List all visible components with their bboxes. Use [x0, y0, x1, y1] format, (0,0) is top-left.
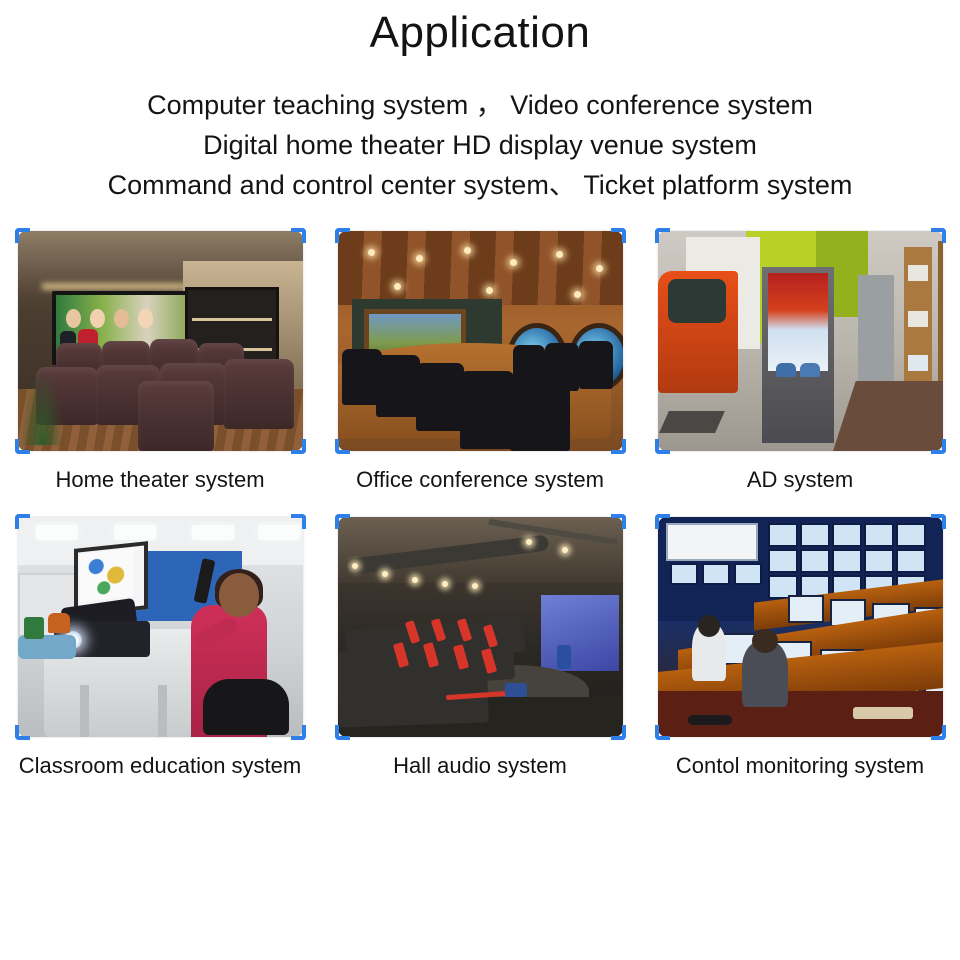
photo-frame-classroom[interactable]	[18, 517, 303, 737]
photo-frame-ad-system[interactable]	[658, 231, 943, 451]
gallery-caption: Hall audio system	[393, 751, 567, 781]
gallery-caption: Classroom education system	[19, 751, 301, 781]
world-map-icon	[666, 523, 758, 561]
photo-frame-control-monitoring[interactable]	[658, 517, 943, 737]
photo-frame-office-conference[interactable]	[338, 231, 623, 451]
keyboard-icon	[203, 679, 289, 735]
gallery-item-hall-audio: Hall audio system	[320, 517, 640, 781]
subtitle-line-2: Digital home theater HD display venue sy…	[0, 125, 960, 165]
gallery-caption: Home theater system	[55, 465, 264, 495]
presentation-screen-icon	[541, 595, 619, 671]
page-title: Application	[0, 0, 960, 59]
subtitle-line-1: Computer teaching system ， Video confere…	[0, 85, 960, 125]
photo-frame-home-theater[interactable]	[18, 231, 303, 451]
subtitle-line-3: Command and control center system、 Ticke…	[0, 165, 960, 205]
gallery-caption: Contol monitoring system	[676, 751, 924, 781]
application-subtitle-block: Computer teaching system ， Video confere…	[0, 85, 960, 205]
gallery-item-home-theater: Home theater system	[0, 231, 320, 495]
classroom-scene	[18, 517, 303, 737]
gallery-item-classroom: Classroom education system	[0, 517, 320, 781]
photo-frame-hall-audio[interactable]	[338, 517, 623, 737]
office-conference-scene	[338, 231, 623, 451]
gallery-item-ad-system: AD system	[640, 231, 960, 495]
home-theater-scene	[18, 231, 303, 451]
control-monitoring-scene	[658, 517, 943, 737]
gallery-item-office-conference: Office conference system	[320, 231, 640, 495]
gallery-caption: Office conference system	[356, 465, 604, 495]
ad-display-scene	[658, 231, 943, 451]
hall-audio-scene	[338, 517, 623, 737]
gallery-item-control-monitoring: Contol monitoring system	[640, 517, 960, 781]
application-gallery: Home theater system	[0, 231, 960, 781]
gallery-caption: AD system	[747, 465, 853, 495]
